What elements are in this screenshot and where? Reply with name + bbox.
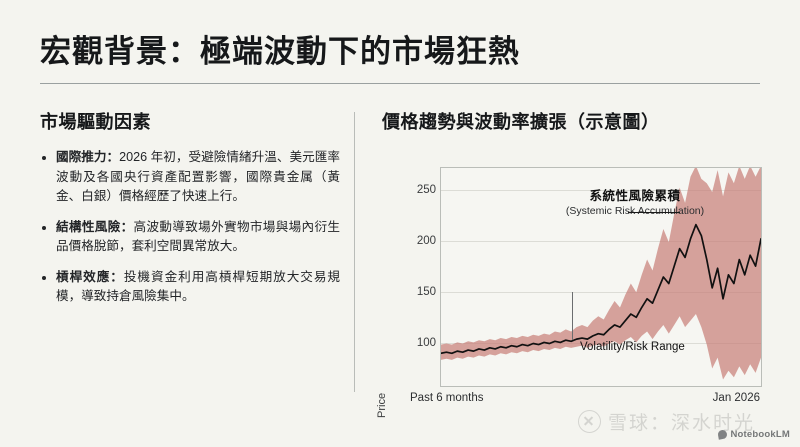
notebooklm-icon bbox=[718, 430, 727, 439]
y-tick-label: 100 bbox=[390, 337, 436, 349]
notebooklm-label: NotebookLM bbox=[730, 429, 790, 440]
chart-series-svg bbox=[441, 168, 761, 386]
chart-heading: 價格趨勢與波動率擴張（示意圖） bbox=[382, 108, 772, 134]
x-tick-label-end: Jan 2026 bbox=[713, 392, 760, 404]
y-tick-label: 200 bbox=[390, 235, 436, 247]
drivers-panel: 市場驅動因素 國際推力：2026 年初，受避險情緒升溫、美元匯率波動及各國央行資… bbox=[40, 108, 340, 318]
x-tick-label-start: Past 6 months bbox=[410, 392, 484, 404]
price-volatility-chart: Price 250 200 150 100 Past 6 months Jan … bbox=[382, 160, 782, 400]
x-circle-icon bbox=[578, 410, 601, 433]
y-axis-label: Price bbox=[376, 393, 388, 418]
plot-area bbox=[440, 167, 762, 387]
page-title: 宏觀背景：極端波動下的市場狂熱 bbox=[40, 26, 520, 71]
drivers-list: 國際推力：2026 年初，受避險情緒升溫、美元匯率波動及各國央行資產配置影響，國… bbox=[40, 148, 340, 307]
list-item: 國際推力：2026 年初，受避險情緒升溫、美元匯率波動及各國央行資產配置影響，國… bbox=[40, 148, 340, 207]
column-divider bbox=[354, 112, 355, 392]
list-item-lead: 國際推力： bbox=[56, 150, 119, 164]
slide-root: 宏觀背景：極端波動下的市場狂熱 市場驅動因素 國際推力：2026 年初，受避險情… bbox=[0, 0, 800, 447]
title-divider bbox=[40, 83, 760, 84]
list-item: 結構性風險：高波動導致場外實物市場與場內衍生品價格脫節，套利空間異常放大。 bbox=[40, 218, 340, 257]
volatility-range-annotation: Volatility/Risk Range bbox=[580, 341, 685, 353]
y-axis-ticks: 250 200 150 100 bbox=[382, 160, 436, 392]
list-item: 槓桿效應：投機資金利用高槓桿短期放大交易規模，導致持倉風險集中。 bbox=[40, 268, 340, 307]
y-tick-label: 250 bbox=[390, 184, 436, 196]
systemic-risk-leader-line bbox=[628, 212, 680, 213]
chart-panel-header: 價格趨勢與波動率擴張（示意圖） bbox=[382, 108, 772, 134]
notebooklm-badge: NotebookLM bbox=[718, 429, 790, 440]
y-tick-label: 150 bbox=[390, 286, 436, 298]
volatility-leader-line bbox=[572, 292, 573, 340]
drivers-heading: 市場驅動因素 bbox=[40, 108, 340, 134]
list-item-lead: 槓桿效應： bbox=[56, 270, 124, 284]
list-item-lead: 結構性風險： bbox=[56, 220, 134, 234]
